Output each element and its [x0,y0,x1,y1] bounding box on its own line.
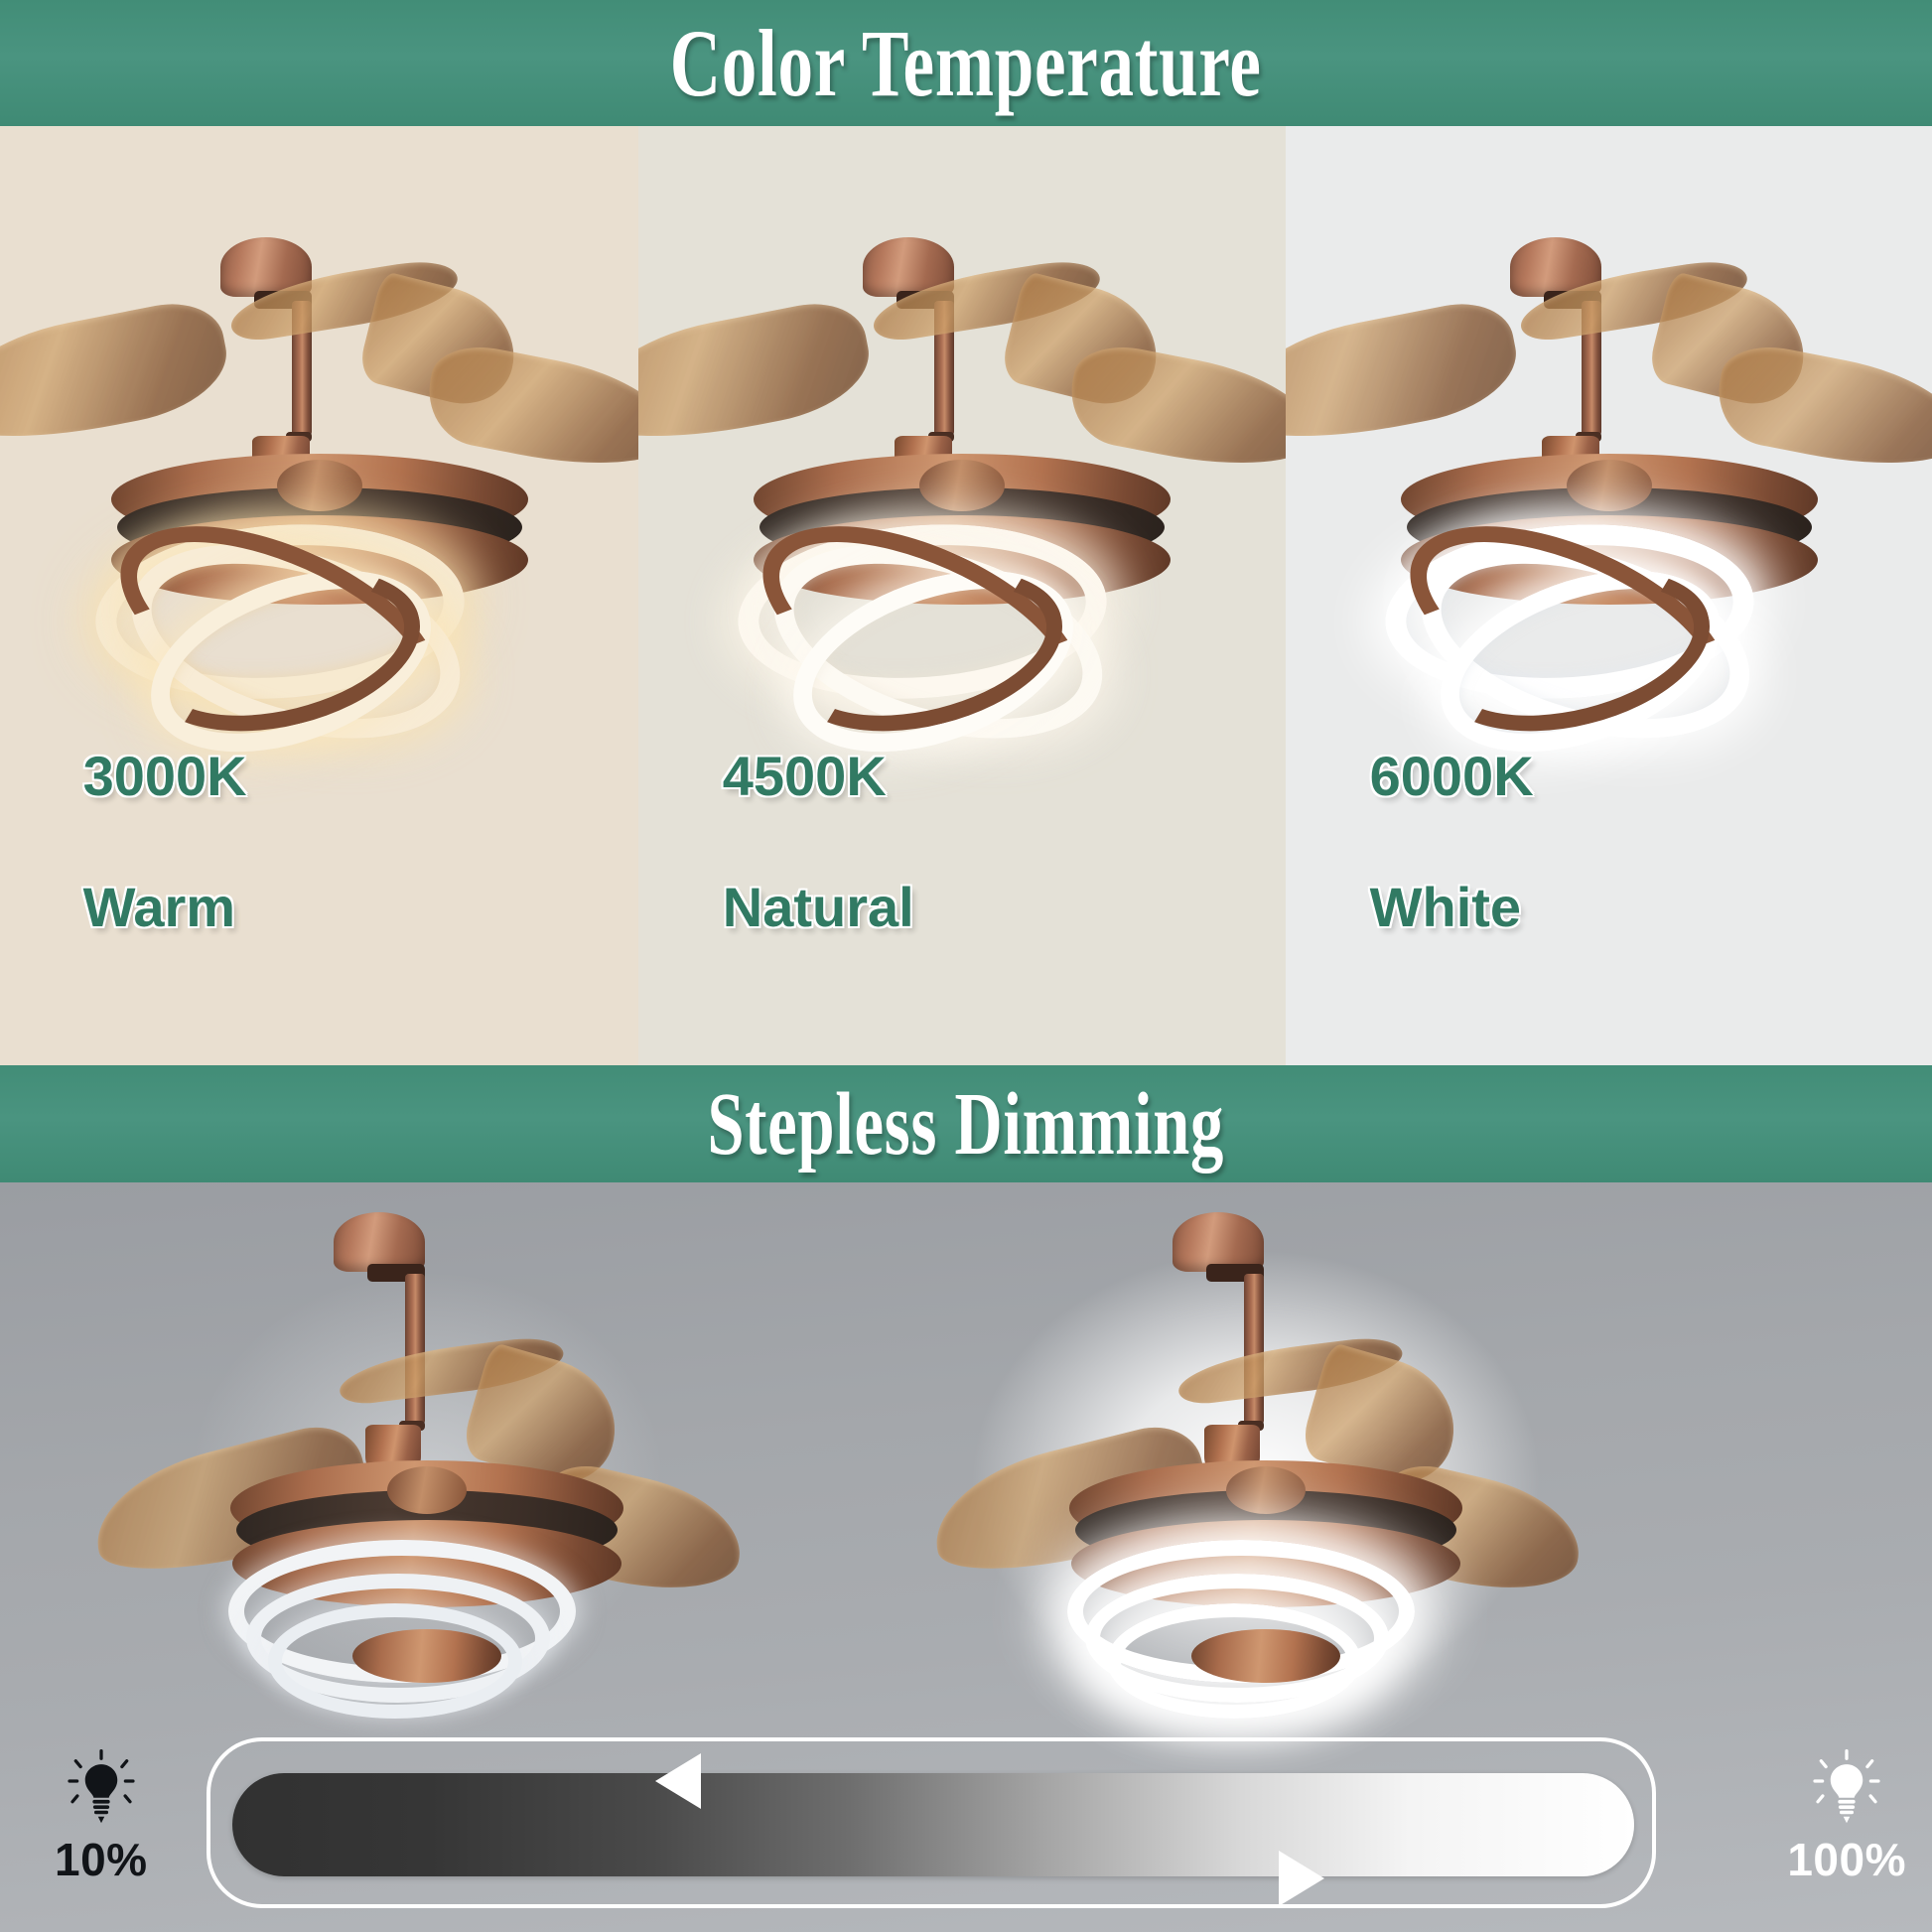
tone-value: White [1370,875,1534,940]
fan-blade-right [420,338,638,483]
tone-value: Natural [723,875,914,940]
center-plate [1191,1629,1340,1683]
stepless-dimming-banner: Stepless Dimming [0,1065,1932,1182]
color-temperature-panel-3000k: 3000K Warm [0,126,638,1065]
fan-blade-right [1062,338,1286,483]
color-temperature-row: 3000K Warm [0,126,1932,1065]
slider-gradient-fill[interactable] [232,1773,1634,1876]
fan-blade-left [638,294,879,456]
downrod [1244,1274,1264,1425]
color-temperature-title: Color Temperature [670,8,1262,118]
motor-hub [1226,1466,1306,1514]
color-temperature-panel-4500k: 4500K Natural [638,126,1286,1065]
kelvin-value: 3000K [83,744,247,809]
kelvin-value: 6000K [1370,744,1534,809]
stepless-dimming-section: 10% [0,1182,1932,1932]
motor-hub [277,460,362,511]
color-temperature-label-6000k: 6000K White [1370,678,1534,1006]
lightbulb-icon [1812,1749,1881,1827]
canopy [1173,1212,1264,1272]
motor-hub [1567,460,1652,511]
ceiling-fan-dim-10 [119,1192,735,1719]
min-brightness-indicator: 10% [55,1749,148,1886]
max-brightness-indicator: 100% [1787,1749,1906,1886]
color-temperature-label-3000k: 3000K Warm [83,678,247,1006]
color-temperature-label-4500k: 4500K Natural [723,678,914,1006]
stepless-dimming-title: Stepless Dimming [708,1073,1225,1175]
fan-blade-left [0,294,236,456]
dimming-slider[interactable]: 10% [0,1724,1932,1932]
color-temperature-panel-6000k: 6000K White [1286,126,1932,1065]
fan-blade-left [1286,294,1526,456]
arrow-left-icon[interactable] [655,1753,701,1809]
infographic-page: Color Temperature [0,0,1932,1932]
downrod [405,1274,425,1425]
fan-blade-right [1710,338,1932,483]
lightbulb-icon [67,1749,136,1827]
center-plate [352,1629,501,1683]
tone-value: Warm [83,875,247,940]
motor-hub [919,460,1005,511]
canopy [334,1212,425,1272]
arrow-right-icon[interactable] [1279,1851,1324,1906]
min-brightness-label: 10% [55,1833,148,1886]
ceiling-fan-dim-100 [958,1192,1574,1719]
color-temperature-banner: Color Temperature [0,0,1932,126]
motor-hub [387,1466,467,1514]
max-brightness-label: 100% [1787,1833,1906,1886]
kelvin-value: 4500K [723,744,914,809]
